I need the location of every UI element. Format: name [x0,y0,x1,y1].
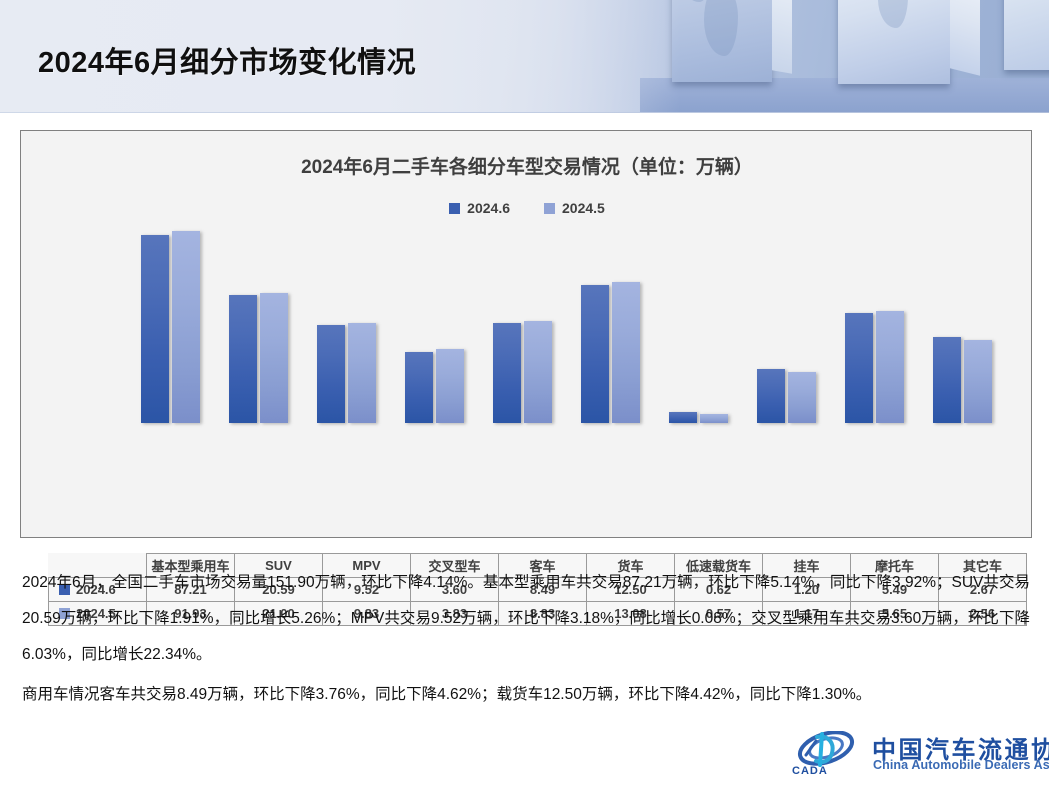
bar-group-2 [302,231,390,423]
chart-panel: 2024年6月二手车各细分车型交易情况（单位：万辆） 2024.6 2024.5… [20,130,1032,538]
body-paragraph-1: 2024年6月，全国二手车市场交易量151.90万辆，环比下降4.14%。基本型… [22,565,1030,673]
chart-plot-area [126,231,1006,423]
legend-item-series-1[interactable]: 2024.5 [544,200,605,216]
slide-header: 2024年6月细分市场变化情况 [0,0,1049,113]
bar-2024.5-5[interactable] [612,282,640,423]
bar-group-6 [654,231,742,423]
header-divider [0,112,1049,113]
bar-2024.6-3[interactable] [405,352,433,423]
bar-group-1 [214,231,302,423]
bar-2024.5-6[interactable] [700,414,728,423]
chart-title: 2024年6月二手车各细分车型交易情况（单位：万辆） [21,152,1033,179]
decorative-cube-1 [672,0,792,90]
bar-group-7 [742,231,830,423]
bar-2024.6-7[interactable] [757,369,785,423]
bar-2024.5-1[interactable] [260,293,288,423]
bar-2024.6-6[interactable] [669,412,697,423]
bar-2024.5-9[interactable] [964,340,992,423]
legend-swatch-series-1 [544,203,555,214]
legend-swatch-series-0 [449,203,460,214]
chart-legend: 2024.6 2024.5 [21,200,1033,216]
cada-logo: CADA 中国汽车流通协会 China Automobile Dealers A… [786,731,1036,779]
bar-2024.5-4[interactable] [524,321,552,423]
bar-2024.6-2[interactable] [317,325,345,423]
bar-group-3 [390,231,478,423]
cada-abbreviation: CADA [792,765,828,777]
bar-2024.6-5[interactable] [581,285,609,423]
bar-2024.6-0[interactable] [141,235,169,423]
legend-label-series-0: 2024.6 [467,200,510,216]
decorative-cube-3 [1004,0,1049,80]
page-title: 2024年6月细分市场变化情况 [38,39,416,81]
cada-english-name: China Automobile Dealers Association [873,758,1049,772]
bar-2024.5-0[interactable] [172,231,200,423]
bar-2024.6-4[interactable] [493,323,521,423]
bar-2024.6-1[interactable] [229,295,257,423]
slide-root: 2024年6月细分市场变化情况 2024年6月二手车各细分车型交易情况（单位：万… [0,0,1049,785]
bar-group-0 [126,231,214,423]
legend-label-series-1: 2024.5 [562,200,605,216]
bar-group-4 [478,231,566,423]
legend-item-series-0[interactable]: 2024.6 [449,200,510,216]
bar-2024.5-8[interactable] [876,311,904,423]
bar-2024.5-3[interactable] [436,349,464,423]
bar-group-8 [830,231,918,423]
bar-2024.6-8[interactable] [845,313,873,423]
body-text-block: 2024年6月，全国二手车市场交易量151.90万辆，环比下降4.14%。基本型… [22,565,1030,713]
body-paragraph-2: 商用车情况客车共交易8.49万辆，环比下降3.76%，同比下降4.62%；载货车… [22,677,1030,713]
decorative-cube-2 [838,0,980,92]
bar-group-5 [566,231,654,423]
bar-2024.6-9[interactable] [933,337,961,423]
bar-2024.5-2[interactable] [348,323,376,423]
bar-group-9 [918,231,1006,423]
bar-2024.5-7[interactable] [788,372,816,423]
